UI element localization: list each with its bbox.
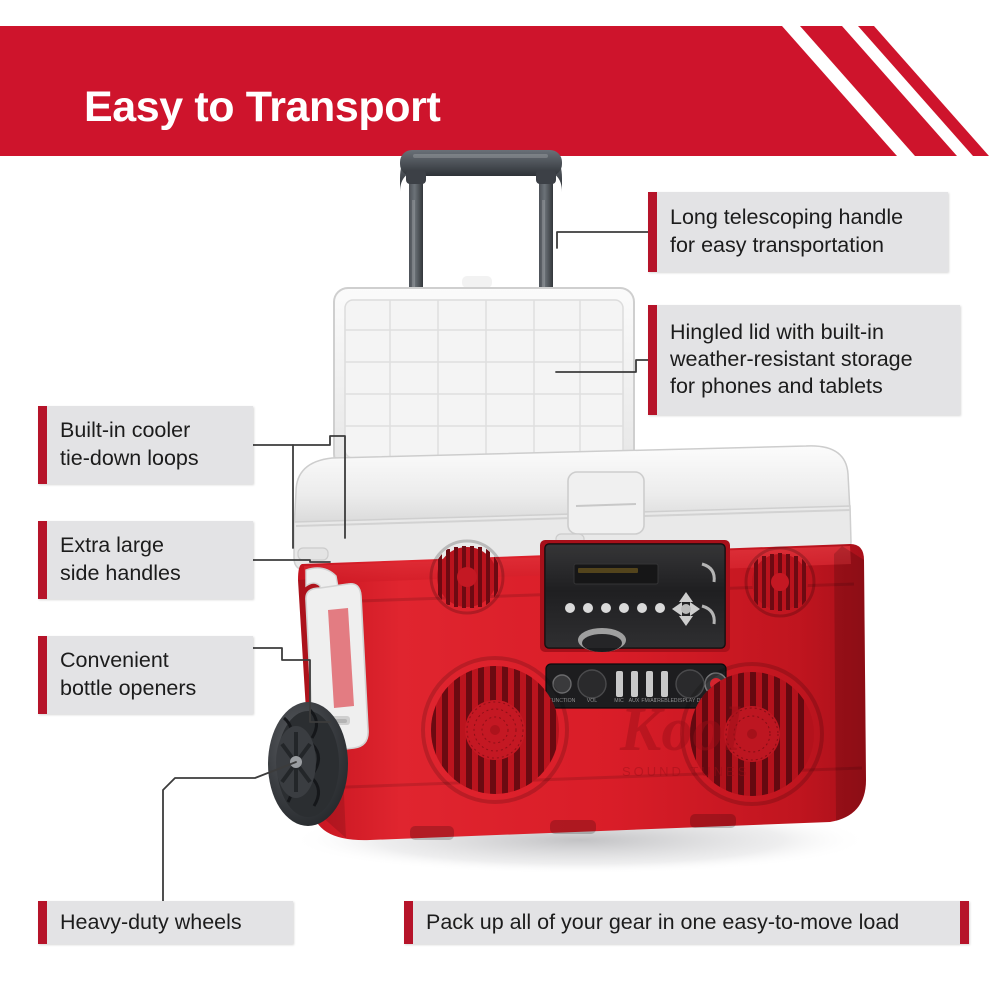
hinged-lid-panel xyxy=(334,288,634,468)
stereo-head-unit xyxy=(540,540,730,652)
handle-collar-left xyxy=(406,170,426,184)
callout-long-telescoping-handle[interactable]: Long telescoping handle for easy transpo… xyxy=(648,192,948,272)
tweeter-speaker-right xyxy=(746,548,814,616)
svg-text:VOL: VOL xyxy=(587,698,597,704)
tweeter-speaker-left xyxy=(431,541,503,613)
callout-heavy-duty-wheels[interactable]: Heavy-duty wheels xyxy=(38,901,293,944)
handle-grip-highlight xyxy=(413,154,548,158)
callout-text: Heavy-duty wheels xyxy=(47,901,293,944)
brand-logo: Kool SOUND TUNES xyxy=(619,696,749,779)
callout-text: Pack up all of your gear in one easy-to-… xyxy=(413,901,960,944)
callout-accent-bar xyxy=(648,305,657,415)
callout-text: Extra large side handles xyxy=(47,521,253,599)
knob-volume xyxy=(578,670,606,698)
wheel-axle-cap xyxy=(290,756,302,768)
callout-text: Convenient bottle openers xyxy=(47,636,253,714)
callout-pack-up-gear[interactable]: Pack up all of your gear in one easy-to-… xyxy=(404,901,969,944)
page-title: Easy to Transport xyxy=(84,86,440,129)
callout-hinged-lid-storage[interactable]: Hingled lid with built-in weather-resist… xyxy=(648,305,960,415)
callout-side-handles[interactable]: Extra large side handles xyxy=(38,521,253,599)
callout-accent-bar xyxy=(38,636,47,714)
handle-collar-right xyxy=(536,170,556,184)
callout-accent-bar xyxy=(648,192,657,272)
body-right-shade xyxy=(834,546,866,821)
head-unit-glass xyxy=(545,544,725,648)
header-banner: Easy to Transport xyxy=(0,26,1000,156)
callout-text: Hingled lid with built-in weather-resist… xyxy=(657,305,960,415)
callout-accent-bar-right xyxy=(960,901,969,944)
callout-accent-bar-left xyxy=(404,901,413,944)
callout-accent-bar xyxy=(38,406,47,484)
heavy-duty-wheel xyxy=(268,702,348,826)
brand-logo-text: Kool xyxy=(619,696,741,764)
callout-accent-bar xyxy=(38,901,47,944)
lid-latch xyxy=(568,472,644,534)
callout-tie-down-loops[interactable]: Built-in cooler tie-down loops xyxy=(38,406,253,484)
callout-text: Built-in cooler tie-down loops xyxy=(47,406,253,484)
knob-display-dim xyxy=(676,670,704,698)
callout-text: Long telescoping handle for easy transpo… xyxy=(657,192,948,272)
woofer-speaker-left xyxy=(423,658,567,802)
callout-bottle-openers[interactable]: Convenient bottle openers xyxy=(38,636,253,714)
callout-accent-bar xyxy=(38,521,47,599)
infographic-page: Easy to Transport xyxy=(0,0,1000,1000)
brand-logo-sub: SOUND TUNES xyxy=(622,764,749,779)
